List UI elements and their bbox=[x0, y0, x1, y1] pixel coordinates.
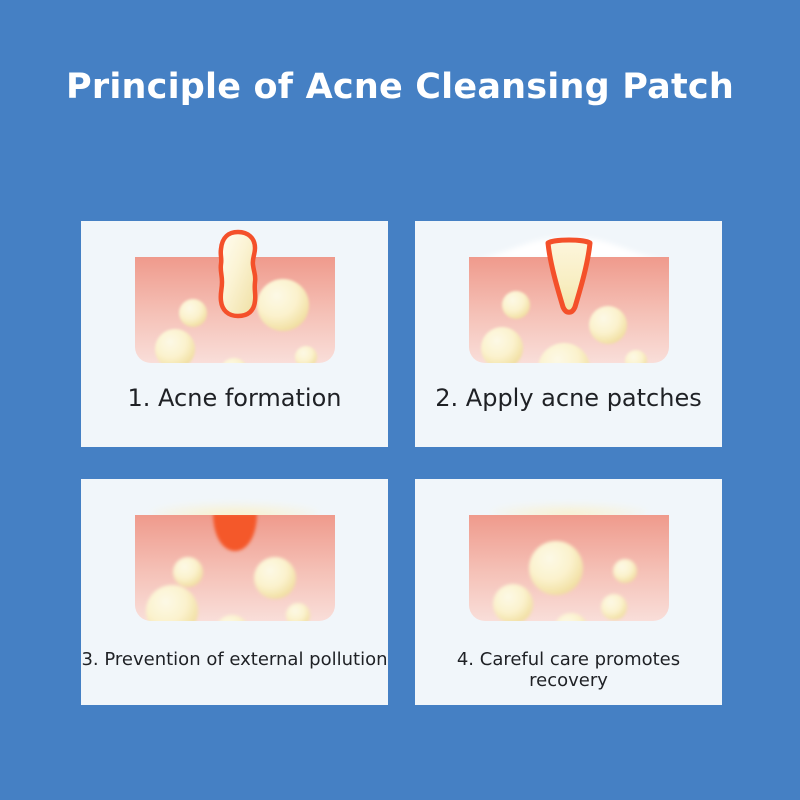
skin-diagram-1 bbox=[120, 221, 350, 379]
skin-diagram-4 bbox=[454, 479, 684, 637]
steps-grid: 1. Acne formation bbox=[81, 221, 722, 705]
page-title: Principle of Acne Cleansing Patch bbox=[0, 68, 800, 107]
step-caption-1: 1. Acne formation bbox=[81, 384, 388, 412]
skin-diagram-2 bbox=[454, 221, 684, 379]
step-card-1[interactable]: 1. Acne formation bbox=[81, 221, 388, 447]
step-caption-4: 4. Careful care promotes recovery bbox=[415, 649, 722, 691]
illustration-prevention-of-external-pollution bbox=[81, 479, 388, 637]
skin-diagram-3 bbox=[120, 479, 350, 637]
pimple-lesion bbox=[220, 232, 255, 316]
step-caption-3: 3. Prevention of external pollution bbox=[81, 649, 388, 670]
step-card-2[interactable]: 2. Apply acne patches bbox=[415, 221, 722, 447]
step-card-3[interactable]: 3. Prevention of external pollution bbox=[81, 479, 388, 705]
step-caption-2: 2. Apply acne patches bbox=[415, 384, 722, 412]
illustration-careful-care-promotes-recovery bbox=[415, 479, 722, 637]
step-card-4[interactable]: 4. Careful care promotes recovery bbox=[415, 479, 722, 705]
illustration-acne-formation bbox=[81, 221, 388, 379]
illustration-apply-acne-patches bbox=[415, 221, 722, 379]
